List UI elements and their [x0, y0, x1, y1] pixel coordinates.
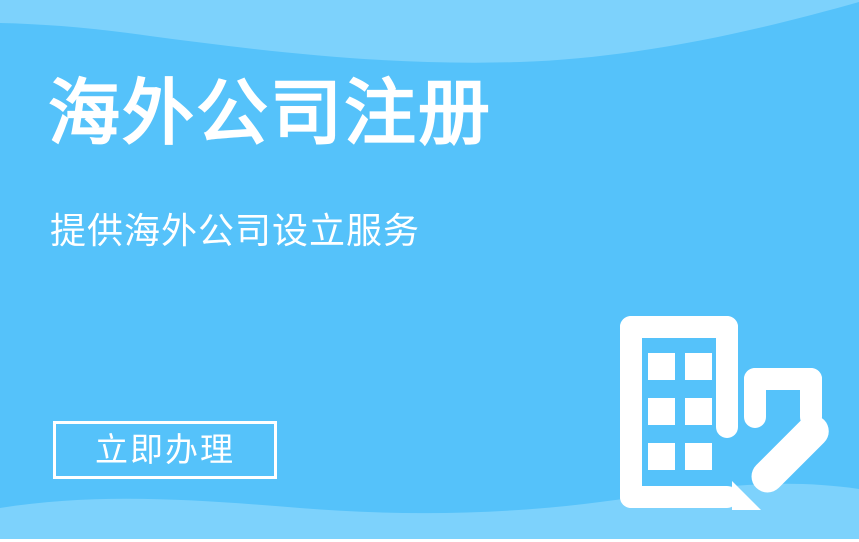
- page-title: 海外公司注册: [48, 70, 492, 156]
- apply-now-button[interactable]: 立即办理: [53, 421, 277, 479]
- page-subtitle: 提供海外公司设立服务: [50, 208, 420, 256]
- window-cell: [685, 443, 712, 470]
- text-content: 海外公司注册 提供海外公司设立服务 立即办理: [48, 0, 608, 542]
- window-cell: [685, 398, 712, 425]
- window-cell: [648, 443, 675, 470]
- window-cell: [685, 353, 712, 380]
- window-cell: [648, 353, 675, 380]
- building-edit-icon: [600, 296, 830, 526]
- window-cell: [648, 398, 675, 425]
- promo-banner: 海外公司注册 提供海外公司设立服务 立即办理: [0, 0, 859, 542]
